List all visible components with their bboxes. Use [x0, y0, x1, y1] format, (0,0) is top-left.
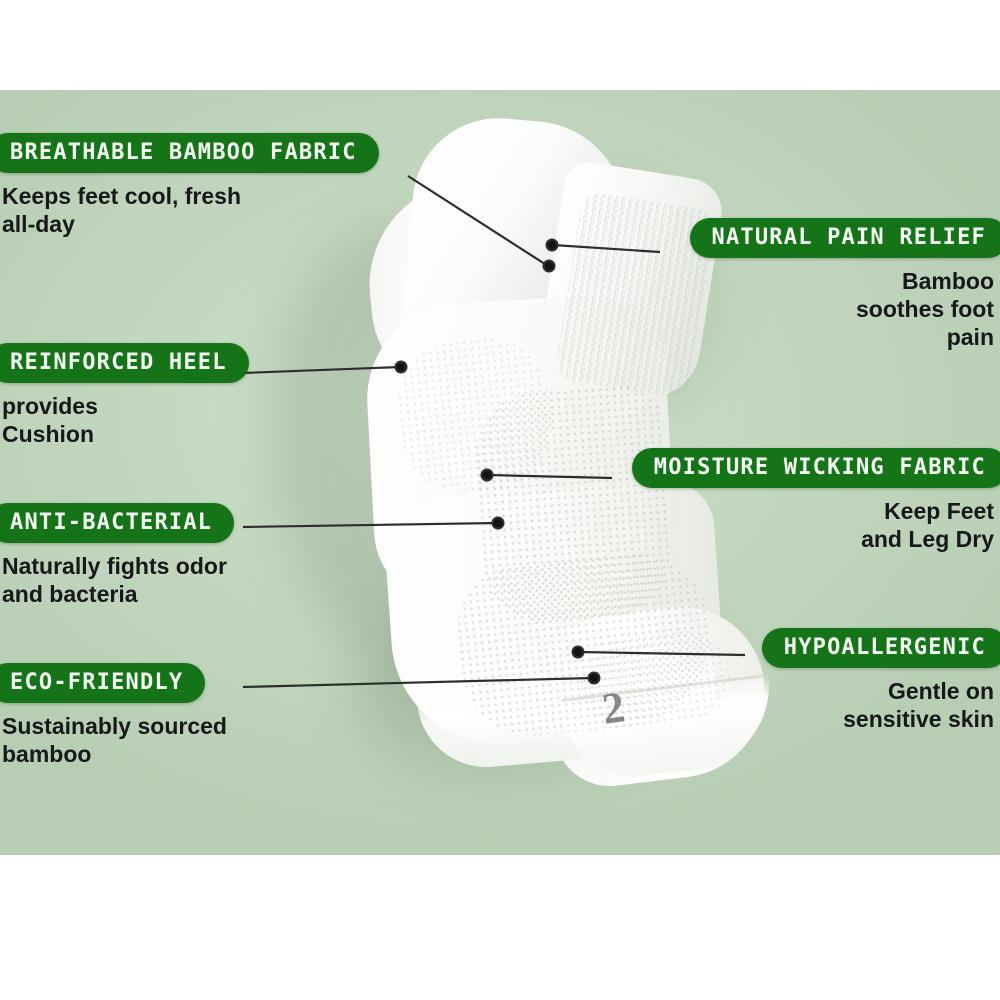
- feature-desc-hypoallergenic: Gentle on sensitive skin: [762, 677, 1000, 733]
- feature-pill-reinforced-heel[interactable]: REINFORCED HEEL: [0, 343, 249, 383]
- feature-moisture-wicking[interactable]: MOISTURE WICKING FABRIC Keep Feet and Le…: [632, 448, 1000, 553]
- feature-natural-pain-relief[interactable]: NATURAL PAIN RELIEF Bamboo soothes foot …: [690, 218, 1000, 351]
- infographic-canvas: 2: [0, 90, 1000, 855]
- feature-breathable[interactable]: BREATHABLE BAMBOO FABRIC Keeps feet cool…: [0, 133, 379, 238]
- feature-reinforced-heel[interactable]: REINFORCED HEEL provides Cushion: [0, 343, 249, 448]
- feature-pill-eco-friendly[interactable]: ECO-FRIENDLY: [0, 663, 205, 703]
- feature-pill-natural-pain-relief[interactable]: NATURAL PAIN RELIEF: [690, 218, 1000, 258]
- sock-size-marking: 2: [599, 680, 635, 730]
- feature-eco-friendly[interactable]: ECO-FRIENDLY Sustainably sourced bamboo: [0, 663, 227, 768]
- feature-pill-hypoallergenic[interactable]: HYPOALLERGENIC: [762, 628, 1000, 668]
- feature-anti-bacterial[interactable]: ANTI-BACTERIAL Naturally fights odor and…: [0, 503, 234, 608]
- feature-pill-breathable[interactable]: BREATHABLE BAMBOO FABRIC: [0, 133, 379, 173]
- infographic-stage: 2: [0, 0, 1000, 1000]
- feature-desc-moisture-wicking: Keep Feet and Leg Dry: [632, 497, 1000, 553]
- feature-desc-anti-bacterial: Naturally fights odor and bacteria: [0, 552, 234, 608]
- feature-desc-reinforced-heel: provides Cushion: [0, 392, 249, 448]
- feature-pill-moisture-wicking[interactable]: MOISTURE WICKING FABRIC: [632, 448, 1000, 488]
- feature-desc-eco-friendly: Sustainably sourced bamboo: [0, 712, 227, 768]
- feature-pill-anti-bacterial[interactable]: ANTI-BACTERIAL: [0, 503, 234, 543]
- feature-hypoallergenic[interactable]: HYPOALLERGENIC Gentle on sensitive skin: [762, 628, 1000, 733]
- feature-desc-natural-pain-relief: Bamboo soothes foot pain: [690, 267, 1000, 351]
- feature-desc-breathable: Keeps feet cool, fresh all-day: [0, 182, 379, 238]
